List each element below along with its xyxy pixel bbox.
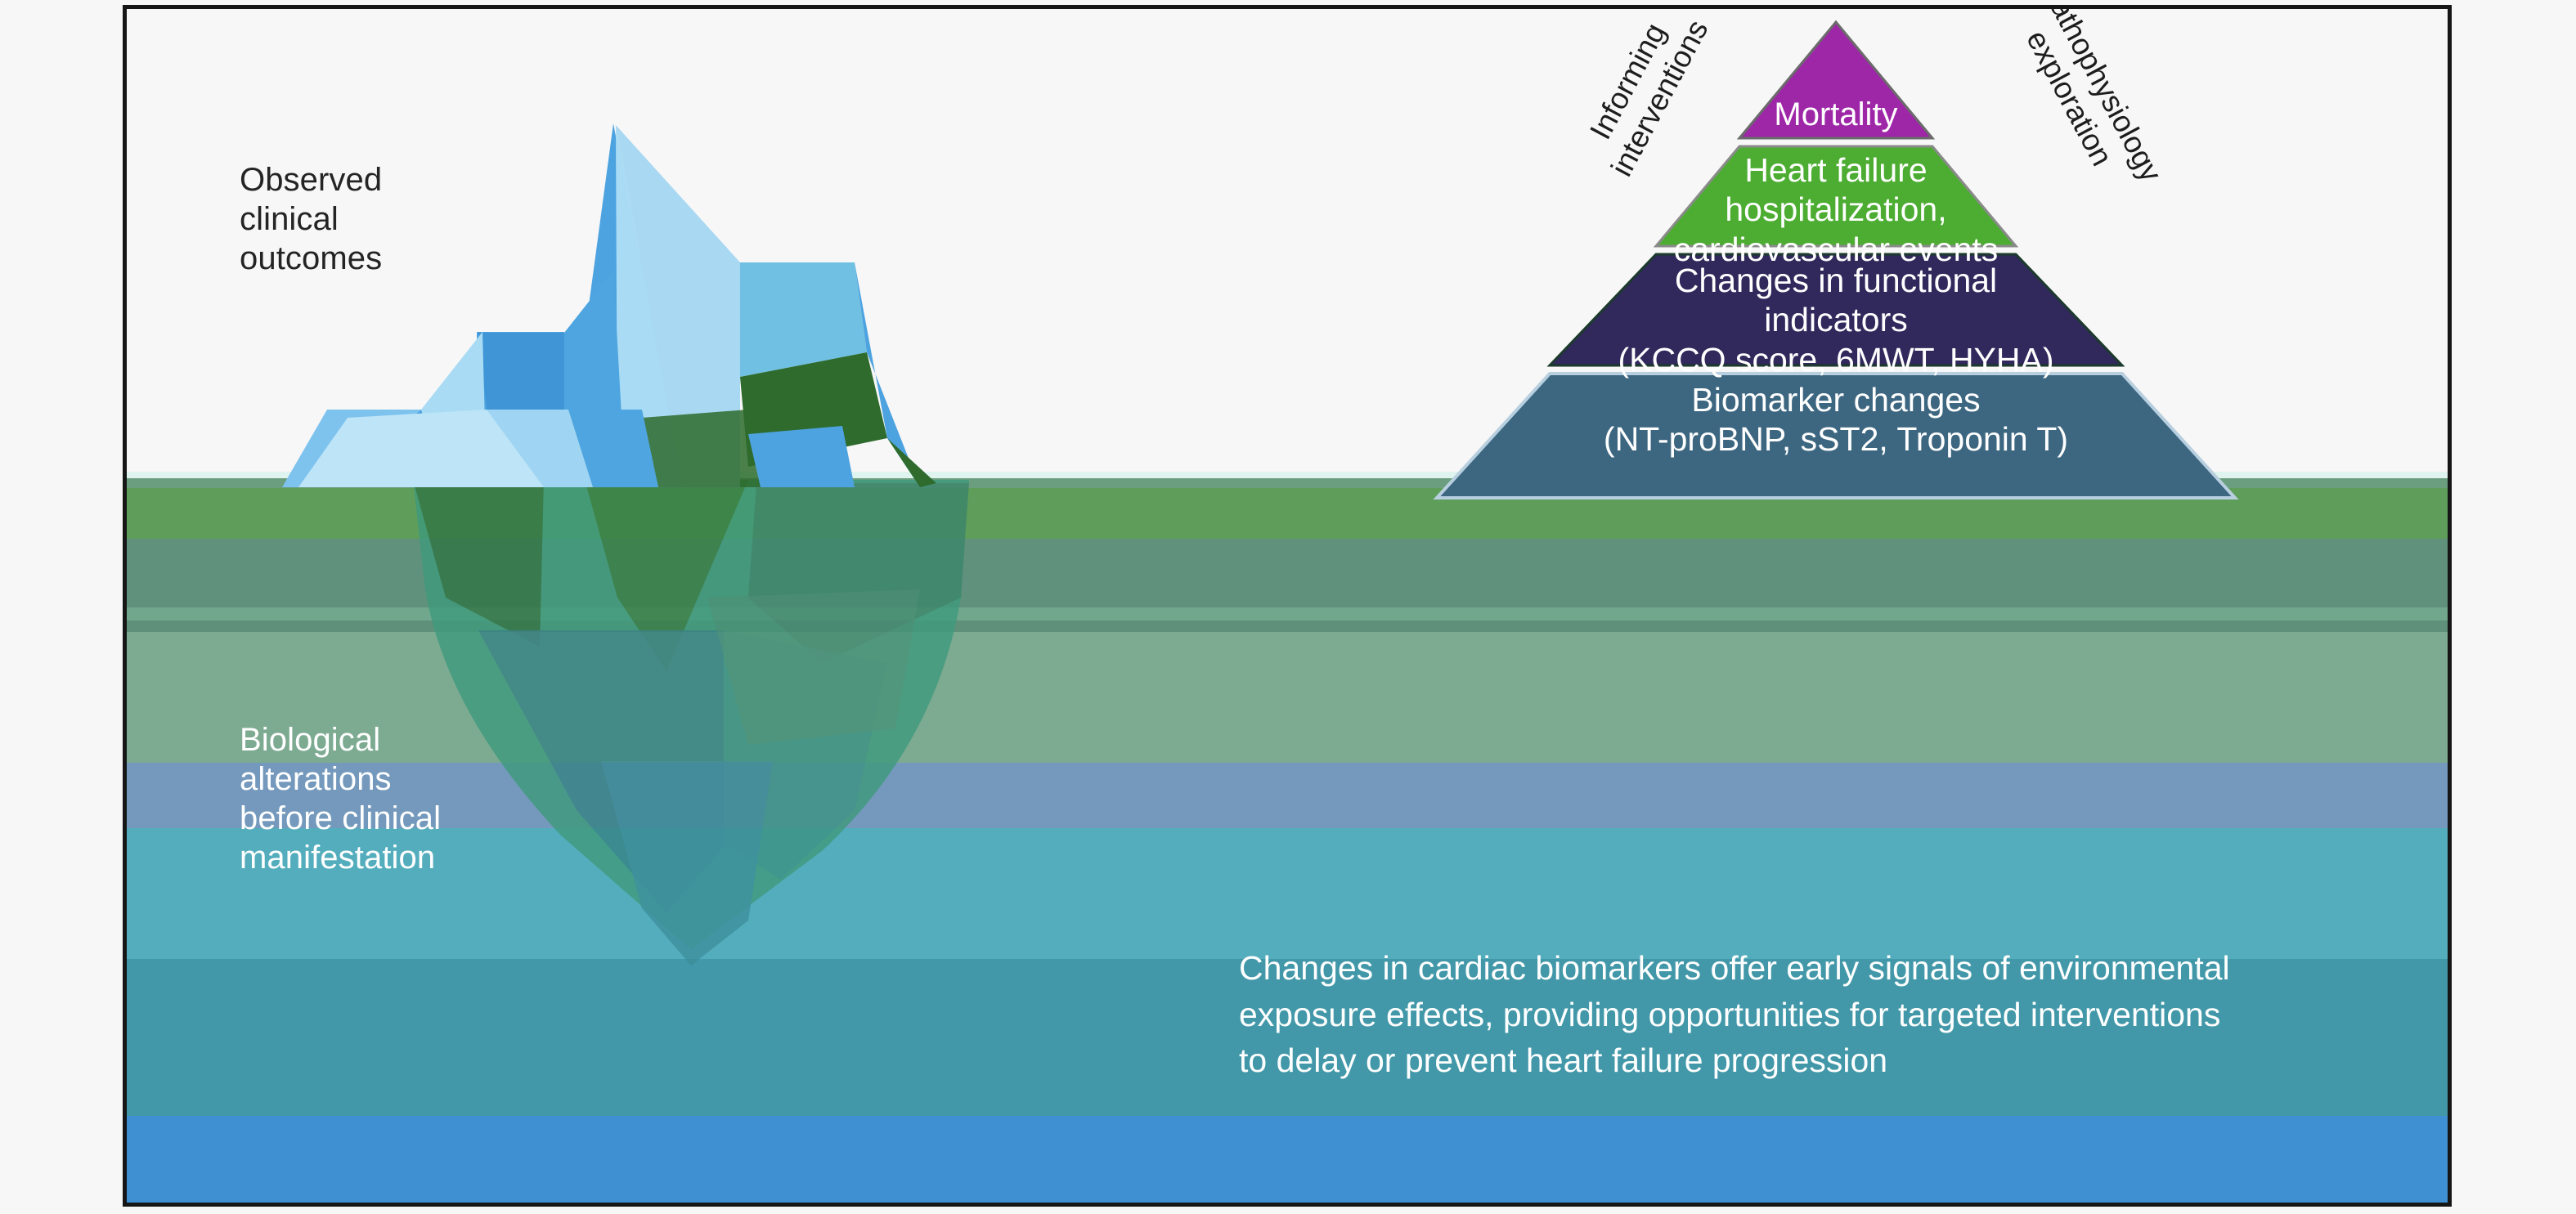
pyramid-tier-biomarkers: [1437, 374, 2235, 498]
iceberg-illustration: [397, 25, 985, 974]
pyramid-tier-mortality: [1739, 22, 1932, 138]
water-band-10-blue: [127, 1116, 2448, 1207]
biological-alterations-label: Biological alterations before clinical m…: [240, 720, 441, 877]
pyramid-tier-functional-indicators: [1550, 254, 2122, 365]
outcome-pyramid: Mortality Heart failure hospitalization,…: [1255, 16, 2417, 931]
pyramid-tier-heart-failure: [1656, 146, 2016, 246]
figure-frame: Observed clinical outcomes Biological al…: [123, 5, 2452, 1207]
observed-outcomes-label: Observed clinical outcomes: [240, 160, 382, 278]
iceberg-below-water: [413, 480, 969, 965]
figure-caption: Changes in cardiac biomarkers offer earl…: [1239, 945, 2452, 1084]
figure-canvas: Observed clinical outcomes Biological al…: [0, 0, 2576, 1214]
